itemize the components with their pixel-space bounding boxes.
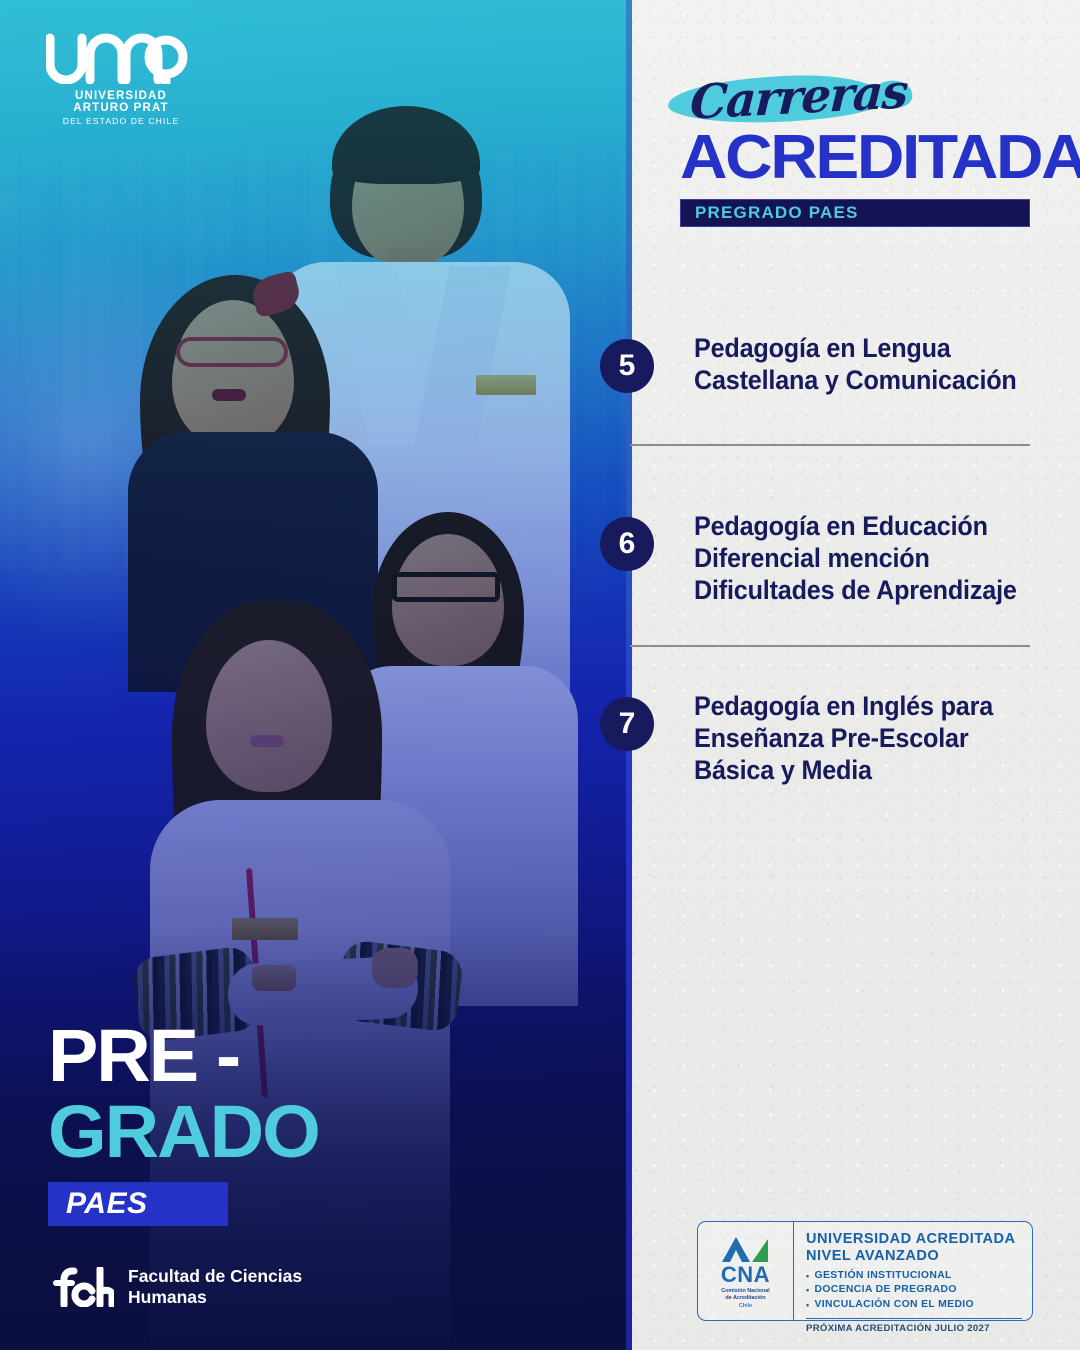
cna-details: UNIVERSIDAD ACREDITADA NIVEL AVANZADO • … xyxy=(794,1222,1032,1320)
bottom-title-line2: GRADO xyxy=(48,1098,319,1166)
career-name: Pedagogía en Educación Diferencial menci… xyxy=(694,511,1023,606)
cna-heading-line1: UNIVERSIDAD ACREDITADA xyxy=(806,1231,1016,1248)
career-number-badge: 5 xyxy=(600,339,654,393)
bottom-title-line1: PRE - xyxy=(48,1022,319,1090)
fch-wordmark-icon xyxy=(48,1267,114,1307)
career-number-badge: 6 xyxy=(600,517,654,571)
fch-logo: Facultad de Ciencias Humanas xyxy=(48,1266,302,1307)
cna-bullet-label: GESTIÓN INSTITUCIONAL xyxy=(815,1269,952,1284)
cna-bullet-label: VINCULACIÓN CON EL MEDIO xyxy=(815,1298,974,1313)
cna-bullet-2: • VINCULACIÓN CON EL MEDIO xyxy=(806,1298,1022,1313)
career-separator-1 xyxy=(630,444,1030,446)
bullet-icon: • xyxy=(806,1299,810,1312)
cna-heading-line2: NIVEL AVANZADO xyxy=(806,1248,1016,1265)
career-separator-2 xyxy=(630,645,1030,647)
cna-divider xyxy=(806,1318,1022,1319)
cna-accreditation-badge: CNA Comisión Nacional de Acreditación Ch… xyxy=(697,1221,1033,1321)
cna-country: Chile xyxy=(739,1303,752,1309)
bottom-title-block: PRE - GRADO PAES xyxy=(48,1022,313,1226)
cna-word: CNA xyxy=(721,1264,770,1286)
cna-subtext-line2: de Acreditación xyxy=(721,1295,770,1302)
career-name: Pedagogía en Inglés para Enseñanza Pre-E… xyxy=(694,691,1023,786)
cna-bullet-0: • GESTIÓN INSTITUCIONAL xyxy=(806,1269,1022,1284)
career-number-badge: 7 xyxy=(600,697,654,751)
career-name: Pedagogía en Lengua Castellana y Comunic… xyxy=(694,333,1023,397)
bullet-icon: • xyxy=(806,1270,810,1283)
fch-line1: Facultad de Ciencias xyxy=(128,1266,302,1287)
cna-footer-text: PRÓXIMA ACREDITACIÓN JULIO 2027 xyxy=(806,1323,1022,1334)
paes-badge: PAES xyxy=(48,1182,228,1226)
cna-chevron-icon xyxy=(718,1235,774,1263)
fch-line2: Humanas xyxy=(128,1287,302,1308)
bullet-icon: • xyxy=(806,1284,810,1297)
cna-bullet-1: • DOCENCIA DE PREGRADO xyxy=(806,1283,1022,1298)
cna-subtext-line1: Comisión Nacional xyxy=(721,1288,770,1295)
cna-bullet-label: DOCENCIA DE PREGRADO xyxy=(815,1283,957,1298)
poster-canvas: UNIVERSIDAD ARTURO PRAT DEL ESTADO DE CH… xyxy=(0,0,1080,1350)
paes-badge-text: PAES xyxy=(66,1187,147,1221)
cna-bullet-list: • GESTIÓN INSTITUCIONAL • DOCENCIA DE PR… xyxy=(806,1269,1022,1313)
cna-subtext: Comisión Nacional de Acreditación xyxy=(721,1288,770,1302)
fch-name: Facultad de Ciencias Humanas xyxy=(128,1266,302,1307)
cna-logo: CNA Comisión Nacional de Acreditación Ch… xyxy=(698,1222,794,1320)
